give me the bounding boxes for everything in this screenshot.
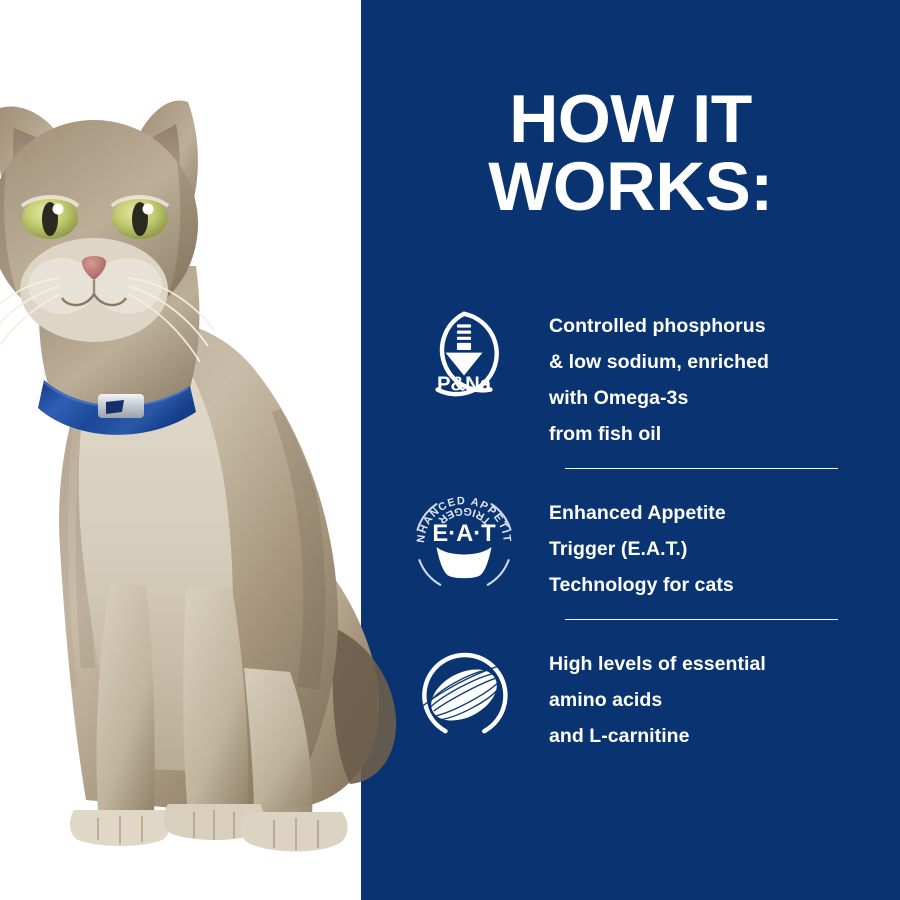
feature-item-eat-technology: ENHANCED APPETITE TRIGGER E·A·T Enhanced… [361,485,900,603]
feature-list: P&Na Controlled phosphorus & low sodium,… [361,296,900,754]
eat-label: E·A·T [432,521,496,547]
feature-line: and L-carnitine [549,718,900,754]
product-infographic: HOW IT WORKS: P&Na [0,0,900,900]
feature-item-phosphorus-sodium: P&Na Controlled phosphorus & low sodium,… [361,298,900,452]
feature-line: with Omega-3s [549,380,900,416]
feature-line: Technology for cats [549,567,900,603]
feature-item-amino-acids: High levels of essential amino acids and… [361,636,900,754]
headline-line-1: HOW IT [361,86,900,153]
feature-line: High levels of essential [549,646,900,682]
feature-line: Trigger (E.A.T.) [549,531,900,567]
page-title: HOW IT WORKS: [361,86,900,220]
feature-divider-1 [565,468,838,469]
feature-line: Enhanced Appetite [549,495,900,531]
enhanced-appetite-trigger-badge-icon: ENHANCED APPETITE TRIGGER E·A·T [405,485,523,603]
feature-line: amino acids [549,682,900,718]
muscle-fiber-icon [405,636,523,754]
photo-panel [0,0,361,900]
phosphorus-sodium-down-arrow-icon: P&Na [405,298,523,416]
food-bowl-icon [436,547,491,578]
feature-text-eat-technology: Enhanced Appetite Trigger (E.A.T.) Techn… [523,485,900,603]
feature-divider-2 [565,619,838,620]
p-and-na-label: P&Na [437,373,492,395]
feature-text-phosphorus-sodium: Controlled phosphorus & low sodium, enri… [523,298,900,452]
feature-line: & low sodium, enriched [549,344,900,380]
headline-line-2: WORKS: [361,153,900,221]
feature-line: Controlled phosphorus [549,308,900,344]
feature-text-amino-acids: High levels of essential amino acids and… [523,636,900,754]
feature-line: from fish oil [549,416,900,452]
